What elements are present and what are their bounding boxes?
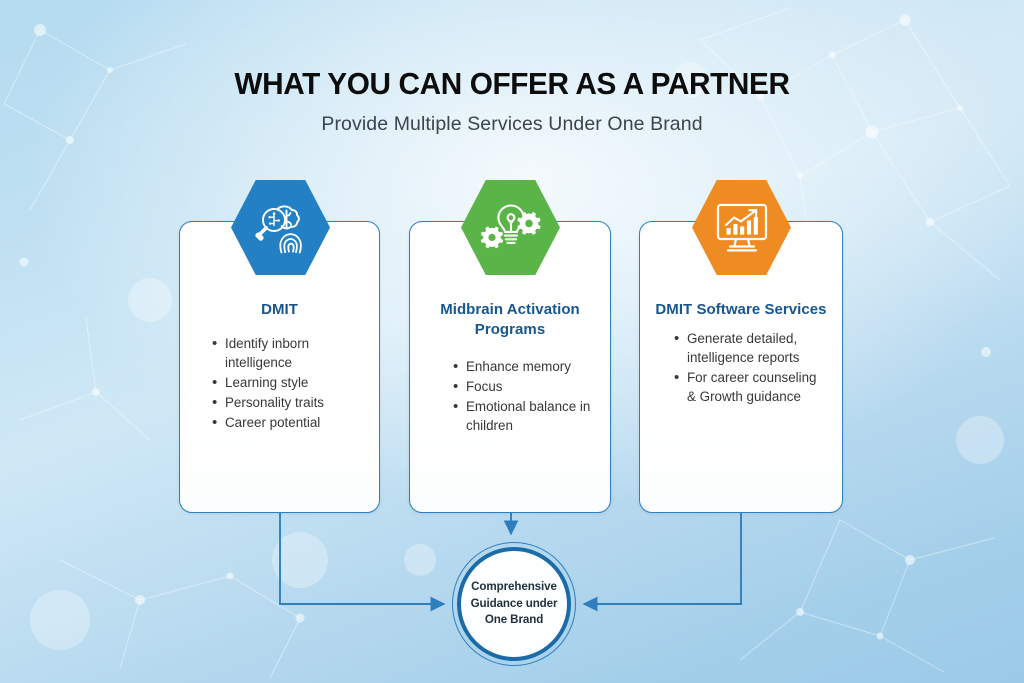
list-item: Personality traits — [211, 393, 365, 412]
card-bullets-software: Generate detailed, intelligence reports … — [654, 329, 828, 406]
page-subtitle: Provide Multiple Services Under One Bran… — [0, 113, 1024, 136]
list-item: Identify inborn intelligence — [211, 334, 365, 372]
connector-left — [280, 513, 444, 604]
outcome-label: Comprehensive Guidance under One Brand — [461, 579, 567, 628]
list-item: Emotional balance in children — [452, 397, 596, 435]
magnifier-brain-fingerprint-icon — [250, 197, 312, 259]
outcome-node[interactable]: Comprehensive Guidance under One Brand — [452, 542, 576, 666]
list-item: Enhance memory — [452, 357, 596, 376]
header: WHAT YOU CAN OFFER AS A PARTNER Provide … — [0, 66, 1024, 136]
page-title: WHAT YOU CAN OFFER AS A PARTNER — [20, 66, 1003, 102]
card-title-dmit: DMIT — [194, 300, 365, 320]
card-bullets-midbrain: Enhance memory Focus Emotional balance i… — [424, 357, 596, 435]
outcome-ring-inner: Comprehensive Guidance under One Brand — [457, 547, 571, 661]
list-item: Generate detailed, intelligence reports — [673, 329, 828, 367]
monitor-bar-chart-icon — [712, 201, 772, 255]
infographic-canvas: WHAT YOU CAN OFFER AS A PARTNER Provide … — [0, 0, 1024, 683]
list-item: Focus — [452, 377, 596, 396]
card-title-software: DMIT Software Services — [654, 300, 828, 320]
lightbulb-gears-icon — [480, 199, 542, 257]
card-bullets-dmit: Identify inborn intelligence Learning st… — [194, 334, 365, 432]
connector-right — [584, 513, 741, 604]
card-title-midbrain: Midbrain Activation Programs — [424, 300, 596, 340]
list-item: Career potential — [211, 413, 365, 432]
list-item: For career counseling & Growth guidance — [673, 368, 828, 406]
list-item: Learning style — [211, 373, 365, 392]
